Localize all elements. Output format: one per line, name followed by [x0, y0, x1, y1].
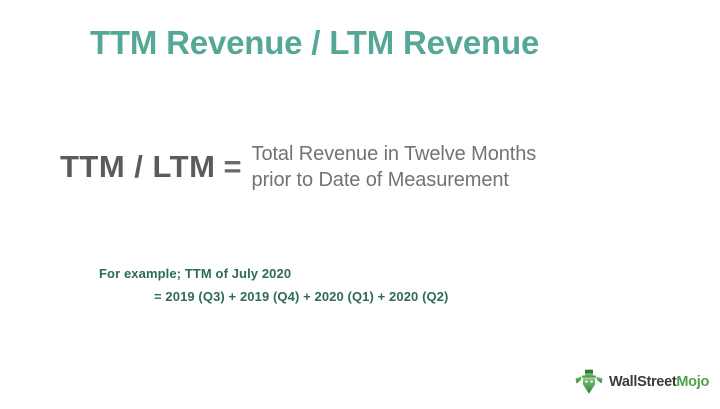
logo-text-accent: Mojo	[676, 374, 709, 390]
slide-canvas: TTM Revenue / LTM Revenue TTM / LTM = To…	[0, 0, 720, 409]
formula-left-side: TTM / LTM	[60, 142, 215, 182]
example-line-1: For example; TTM of July 2020	[99, 267, 448, 281]
wallstreetmojo-bull-icon	[574, 368, 604, 396]
wallstreetmojo-wordmark: WallStreetMojo	[609, 375, 709, 390]
logo-text-primary: WallStreet	[609, 374, 676, 390]
formula-right-side-line-2: prior to Date of Measurement	[252, 168, 537, 194]
page-title: TTM Revenue / LTM Revenue	[90, 24, 650, 62]
formula-right-side: Total Revenue in Twelve Months prior to …	[252, 142, 537, 193]
equals-sign: =	[215, 142, 251, 182]
wallstreetmojo-logo: WallStreetMojo	[574, 368, 709, 396]
example-block: For example; TTM of July 2020 = 2019 (Q3…	[99, 267, 448, 305]
formula-block: TTM / LTM = Total Revenue in Twelve Mont…	[60, 142, 536, 193]
formula-right-side-line-1: Total Revenue in Twelve Months	[252, 142, 537, 168]
example-line-2: = 2019 (Q3) + 2019 (Q4) + 2020 (Q1) + 20…	[99, 290, 448, 304]
